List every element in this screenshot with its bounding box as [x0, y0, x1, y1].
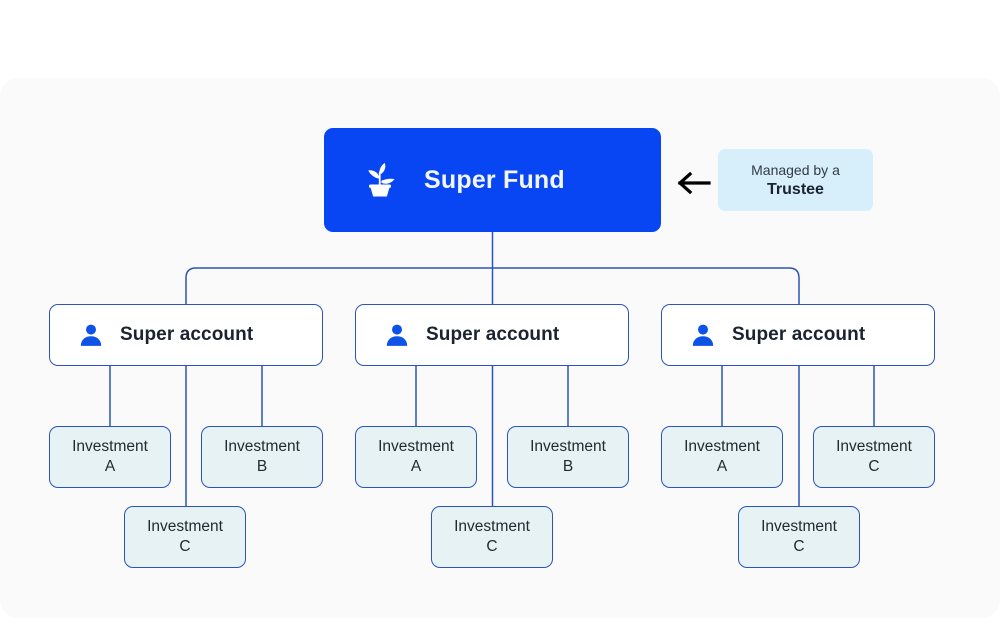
plant-seedling-icon: [358, 158, 402, 202]
trustee-prefix-label: Managed by a: [751, 161, 840, 179]
arrow-left-icon: [676, 172, 712, 194]
investment-label-2c: Investment C: [454, 517, 530, 557]
super-account-node-1[interactable]: Super account: [49, 304, 323, 366]
super-account-label-2: Super account: [426, 324, 559, 346]
super-account-label-1: Super account: [120, 324, 253, 346]
investment-node-1a[interactable]: Investment A: [49, 426, 171, 488]
super-account-node-3[interactable]: Super account: [661, 304, 935, 366]
super-fund-node[interactable]: Super Fund: [324, 128, 661, 232]
org-chart: Super Fund Managed by a Trustee Super ac…: [0, 0, 1000, 628]
investment-node-2c[interactable]: Investment C: [431, 506, 553, 568]
investment-label-2b: Investment B: [530, 437, 606, 477]
investment-node-2b[interactable]: Investment B: [507, 426, 629, 488]
trustee-label: Trustee: [767, 180, 824, 200]
investment-label-3c: Investment C: [761, 517, 837, 557]
diagram-root: Super Fund Managed by a Trustee Super ac…: [0, 0, 1000, 628]
investment-node-3a[interactable]: Investment A: [661, 426, 783, 488]
investment-node-2a[interactable]: Investment A: [355, 426, 477, 488]
super-account-node-2[interactable]: Super account: [355, 304, 629, 366]
investment-label-1c: Investment C: [147, 517, 223, 557]
investment-node-3c[interactable]: Investment C: [738, 506, 860, 568]
super-fund-label: Super Fund: [424, 166, 565, 195]
investment-label-1a: Investment A: [72, 437, 148, 477]
investment-node-1c[interactable]: Investment C: [124, 506, 246, 568]
investment-label-3b: Investment C: [836, 437, 912, 477]
investment-label-1b: Investment B: [224, 437, 300, 477]
investment-node-1b[interactable]: Investment B: [201, 426, 323, 488]
person-icon: [384, 322, 410, 348]
person-icon: [690, 322, 716, 348]
trustee-callout: Managed by a Trustee: [718, 149, 873, 211]
investment-node-3b[interactable]: Investment C: [813, 426, 935, 488]
person-icon: [78, 322, 104, 348]
super-account-label-3: Super account: [732, 324, 865, 346]
connector-bus: [186, 268, 799, 304]
investment-label-3a: Investment A: [684, 437, 760, 477]
investment-label-2a: Investment A: [378, 437, 454, 477]
